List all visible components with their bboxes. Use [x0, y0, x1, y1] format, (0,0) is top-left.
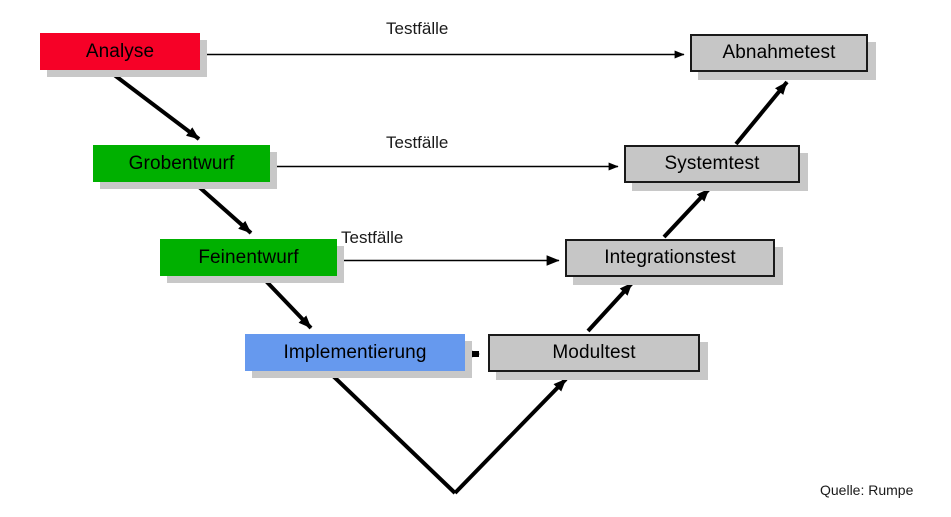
node-systemtest[interactable]: Systemtest — [624, 145, 800, 183]
edge-vertex-to-modultest — [455, 379, 566, 493]
edge-analyse-to-grobentwurf — [113, 74, 199, 139]
node-analyse[interactable]: Analyse — [40, 33, 200, 70]
edge-modultest-to-integrationstest — [588, 283, 632, 331]
node-systemtest-label: Systemtest — [665, 153, 760, 175]
source-note: Quelle: Rumpe — [820, 482, 913, 498]
edge-feinentwurf-to-implementierung — [265, 280, 311, 328]
edge-label-testfaelle-1: Testfälle — [386, 19, 448, 39]
node-abnahmetest[interactable]: Abnahmetest — [690, 34, 868, 72]
node-feinentwurf-label: Feinentwurf — [198, 247, 298, 269]
v-model-diagram: Analyse Grobentwurf Feinentwurf Implemen… — [0, 0, 951, 517]
node-abnahmetest-label: Abnahmetest — [722, 42, 835, 64]
edge-implementierung-to-vertex — [330, 373, 455, 493]
node-analyse-label: Analyse — [86, 41, 154, 63]
node-modultest-label: Modultest — [552, 342, 635, 364]
edge-label-testfaelle-3: Testfälle — [341, 228, 403, 248]
edge-systemtest-to-abnahmetest — [736, 82, 787, 144]
node-implementierung-label: Implementierung — [283, 342, 426, 364]
node-integrationstest-label: Integrationstest — [604, 247, 736, 269]
edge-label-testfaelle-2: Testfälle — [386, 133, 448, 153]
node-grobentwurf[interactable]: Grobentwurf — [93, 145, 270, 182]
edge-grobentwurf-to-feinentwurf — [198, 186, 251, 233]
edge-integrationstest-to-systemtest — [664, 189, 709, 237]
node-grobentwurf-label: Grobentwurf — [129, 153, 235, 175]
node-implementierung[interactable]: Implementierung — [245, 334, 465, 371]
node-feinentwurf[interactable]: Feinentwurf — [160, 239, 337, 276]
node-integrationstest[interactable]: Integrationstest — [565, 239, 775, 277]
node-modultest[interactable]: Modultest — [488, 334, 700, 372]
